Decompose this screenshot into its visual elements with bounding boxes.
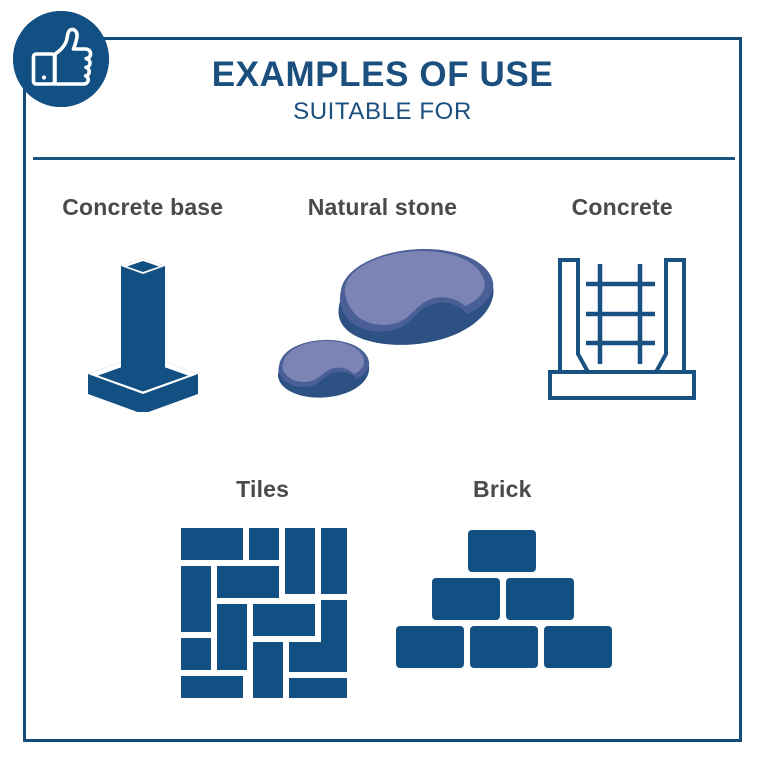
infographic-page: EXAMPLES OF USE SUITABLE FOR Concrete ba… [0,0,768,768]
example-concrete-base: Concrete base [23,190,263,440]
examples-row-2: Tiles [23,472,742,722]
example-illustration [177,524,349,702]
natural-stone-icon [263,242,503,412]
example-label: Tiles [236,472,289,506]
brick-wall-icon [392,524,612,686]
page-title: EXAMPLES OF USE [23,55,742,95]
example-tiles: Tiles [143,472,383,722]
tiles-pattern-icon [177,524,349,702]
header: EXAMPLES OF USE SUITABLE FOR [23,55,742,127]
page-subtitle: SUITABLE FOR [23,97,742,127]
example-label: Concrete base [62,190,223,224]
thumbs-up-badge [13,11,109,107]
reinforced-concrete-icon [542,242,702,412]
header-divider [33,157,735,160]
example-illustration [542,242,702,412]
example-illustration [392,524,612,686]
example-natural-stone: Natural stone [263,190,503,440]
example-label: Natural stone [308,190,458,224]
thumbs-up-icon [13,11,109,107]
example-label: Concrete [572,190,673,224]
example-concrete: Concrete [503,190,743,440]
concrete-pillar-icon [78,242,208,412]
example-label: Brick [473,472,532,506]
examples-row-1: Concrete base Natural stone [23,190,742,440]
example-illustration [78,242,208,412]
example-brick: Brick [383,472,623,722]
example-illustration [263,242,503,412]
